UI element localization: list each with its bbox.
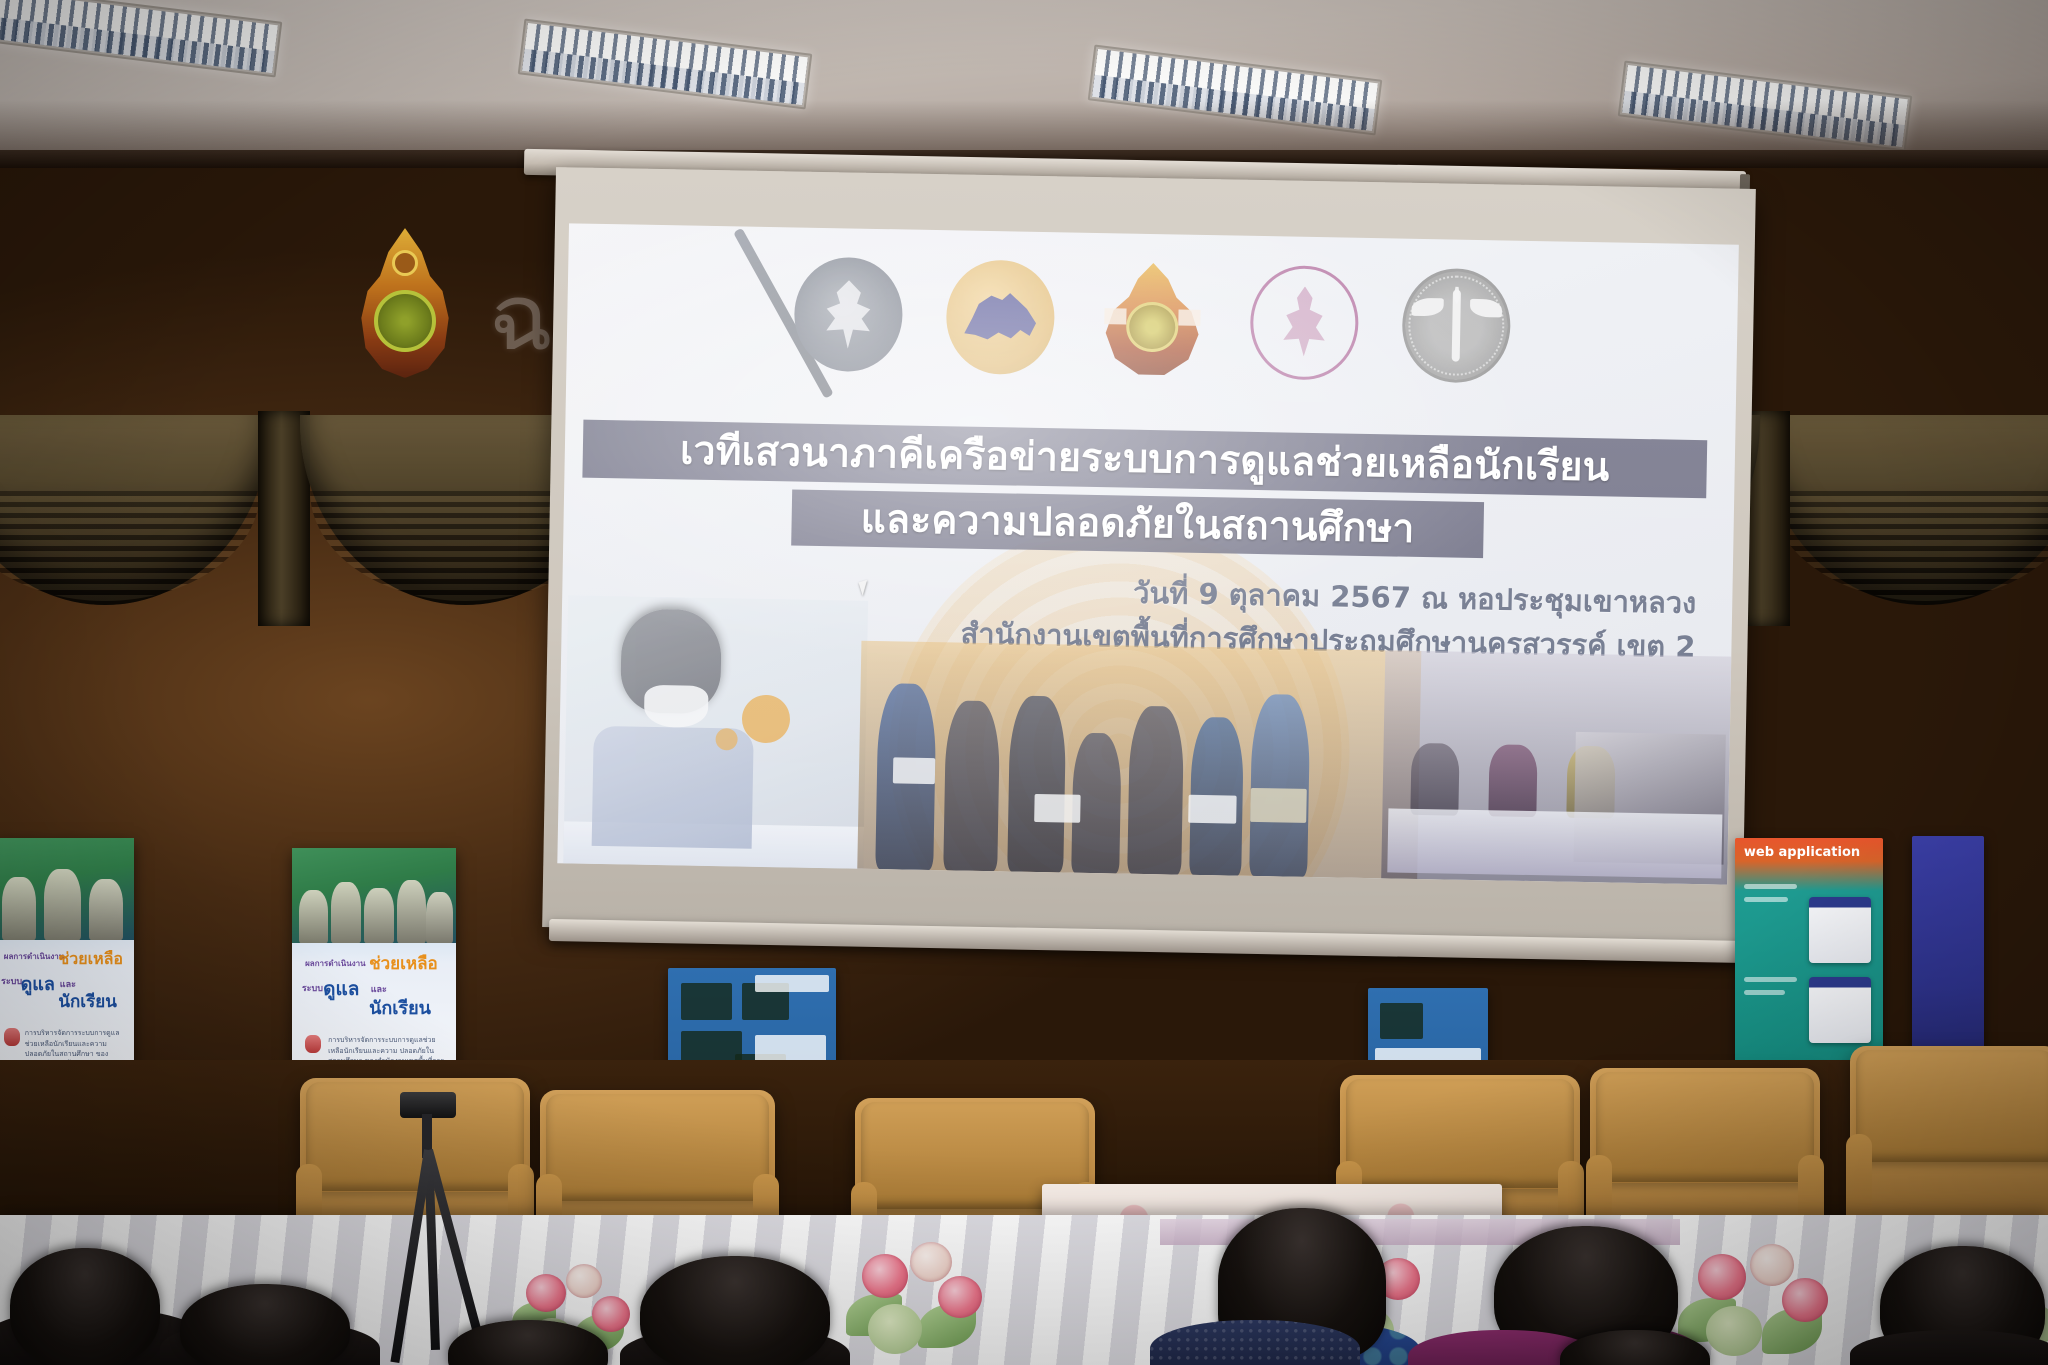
poster-person [299, 890, 329, 943]
rose [910, 1242, 952, 1282]
rose [526, 1274, 566, 1312]
camera-tripod [372, 1092, 482, 1362]
poster-heading-นักเรียน: นักเรียน [369, 993, 431, 1022]
poster-seal-icon [4, 1028, 20, 1046]
mouse-cursor-icon [859, 580, 872, 596]
ceremony-person [943, 700, 1000, 871]
rose [1750, 1244, 1794, 1286]
board-photo [681, 983, 731, 1020]
seal-wing-right [1178, 309, 1200, 325]
rose [1782, 1278, 1828, 1322]
ceiling-light-1 [0, 0, 282, 77]
ministry-of-education-emblem-icon [345, 228, 465, 398]
rose [1698, 1254, 1746, 1300]
poster-person [2, 877, 36, 940]
board-text-row [755, 975, 829, 992]
singha-lion-seal-icon [945, 259, 1055, 375]
board-line [1744, 990, 1785, 995]
app-screenshot [1809, 897, 1871, 963]
certificate [893, 757, 935, 784]
board-line [1744, 897, 1788, 902]
ceiling-light-2 [518, 19, 813, 110]
signing-table [1387, 808, 1722, 878]
signatory [1410, 743, 1459, 816]
poster-person [44, 869, 80, 940]
poster-top-photo [0, 838, 134, 940]
tripod-leg [390, 1149, 433, 1363]
board-heading: web application [1744, 846, 1871, 876]
sofa-back [1856, 1050, 2048, 1162]
accent-dot-large [742, 695, 791, 744]
award-ceremony-group-photo [857, 641, 1421, 879]
audience-head-3 [640, 1256, 830, 1365]
garuda-seal-icon [793, 256, 903, 372]
poster-heading-ช่วยเหลือ: ช่วยเหลือ [58, 947, 123, 972]
slide-title-line1: เวทีเสวนาภาคีเครือข่ายระบบการดูแลช่วยเหล… [582, 420, 1707, 499]
poster-person [331, 882, 361, 943]
poster-heading-ระบบ: ระบบ [302, 981, 323, 995]
ceremony-person [1007, 695, 1066, 872]
rose [592, 1296, 630, 1332]
emblem-ring [374, 290, 436, 352]
certificate [1034, 794, 1081, 823]
student-writing-photo [563, 595, 868, 868]
audience-head-1 [10, 1248, 160, 1365]
sofa-back [1346, 1079, 1574, 1188]
poster-heading-ช่วยเหลือ: ช่วยเหลือ [369, 950, 438, 977]
ceiling [0, 0, 2048, 160]
ceremony-person [1127, 706, 1184, 875]
board-line [1744, 884, 1797, 889]
certificate [1188, 795, 1237, 824]
ceiling-light-4 [1618, 61, 1913, 152]
poster-person [426, 892, 452, 943]
light-louvre [1622, 65, 1908, 147]
poster-top-photo [292, 848, 456, 943]
face-mask [644, 685, 709, 728]
rose [566, 1264, 602, 1298]
board-line [1744, 977, 1797, 982]
ceremony-person [1249, 694, 1310, 877]
pink-rose-bouquet-2 [838, 1232, 1008, 1365]
poster-heading-ดูแล: ดูแล [323, 974, 359, 1004]
audience-head-2 [180, 1284, 350, 1365]
rose [862, 1254, 908, 1298]
presentation-slide: เวทีเสวนาภาคีเครือข่ายระบบการดูแลช่วยเหล… [557, 223, 1739, 884]
poster-person [89, 879, 123, 940]
slide-logo-row [566, 245, 1738, 394]
sofa-back [546, 1094, 769, 1201]
app-screenshot [1809, 977, 1871, 1043]
emblem-dharmachakra-icon [392, 250, 418, 276]
light-louvre-lower [1622, 91, 1905, 147]
gift-basket [1250, 788, 1307, 823]
rose [938, 1276, 982, 1318]
poster-heading-ดูแล: ดูแล [21, 969, 55, 998]
poster-heading-นักเรียน: นักเรียน [58, 988, 116, 1015]
hydrangea [868, 1304, 922, 1354]
hydrangea [1706, 1306, 1762, 1356]
sema-education-seal-icon [1097, 262, 1207, 378]
provincial-seal-icon [1249, 265, 1359, 381]
ceiling-light-3 [1088, 45, 1383, 136]
board-photo [1380, 1003, 1423, 1039]
poster-heading-ระบบ: ระบบ [1, 974, 22, 988]
poster-person [397, 880, 427, 943]
seal-wing-left [1105, 308, 1127, 324]
poster-heading-small: ผลการดำเนินงาน [4, 950, 64, 963]
poster-seal-icon [305, 1035, 321, 1053]
slide-title-line2: และความปลอดภัยในสถานศึกษา [791, 489, 1484, 558]
signatory [1488, 744, 1537, 817]
mou-signing-and-cpr-photo [1381, 650, 1731, 884]
seal-center [1126, 301, 1179, 352]
conference-hall-photo: ฉ [0, 0, 2048, 1365]
projection-screen: เวทีเสวนาภาคีเครือข่ายระบบการดูแลช่วยเหล… [542, 167, 1756, 949]
poster-person [364, 888, 394, 943]
sofa-back [1596, 1072, 1814, 1182]
poster-heading-small: ผลการดำเนินงาน [305, 957, 365, 970]
ministry-of-public-health-seal-icon [1401, 268, 1511, 384]
